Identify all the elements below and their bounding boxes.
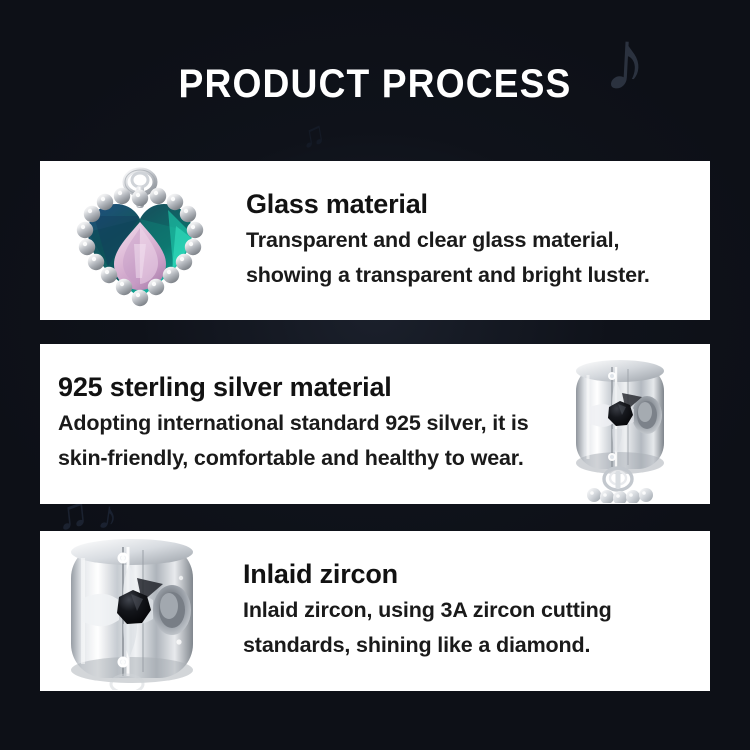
silver-clip-charm-image xyxy=(540,344,710,504)
card-heading: Inlaid zircon xyxy=(243,559,700,590)
card-description: Inlaid zircon, using 3A zircon cutting s… xyxy=(243,593,700,663)
card-inlaid-zircon-body: Inlaid zircon Inlaid zircon, using 3A zi… xyxy=(235,559,710,663)
card-description: Adopting international standard 925 silv… xyxy=(58,406,536,476)
card-inlaid-zircon: Inlaid zircon Inlaid zircon, using 3A zi… xyxy=(40,531,710,691)
heart-pendant-image xyxy=(40,161,240,320)
music-note-faint-icon: ♫ xyxy=(297,116,328,154)
card-sterling-silver-material: 925 sterling silver material Adopting in… xyxy=(40,344,710,504)
card-heading: 925 sterling silver material xyxy=(58,372,536,403)
zircon-clip-charm-image xyxy=(40,531,235,691)
page-title: PRODUCT PROCESS xyxy=(26,62,724,107)
card-description: Transparent and clear glass material, sh… xyxy=(246,223,700,293)
card-glass-material-body: Glass material Transparent and clear gla… xyxy=(240,189,710,293)
card-sterling-silver-body: 925 sterling silver material Adopting in… xyxy=(40,372,540,476)
product-process-infographic: ♫ ♪ ♫ ♪ PRODUCT PROCESS xyxy=(0,0,750,750)
card-glass-material: Glass material Transparent and clear gla… xyxy=(40,161,710,320)
card-heading: Glass material xyxy=(246,189,700,220)
